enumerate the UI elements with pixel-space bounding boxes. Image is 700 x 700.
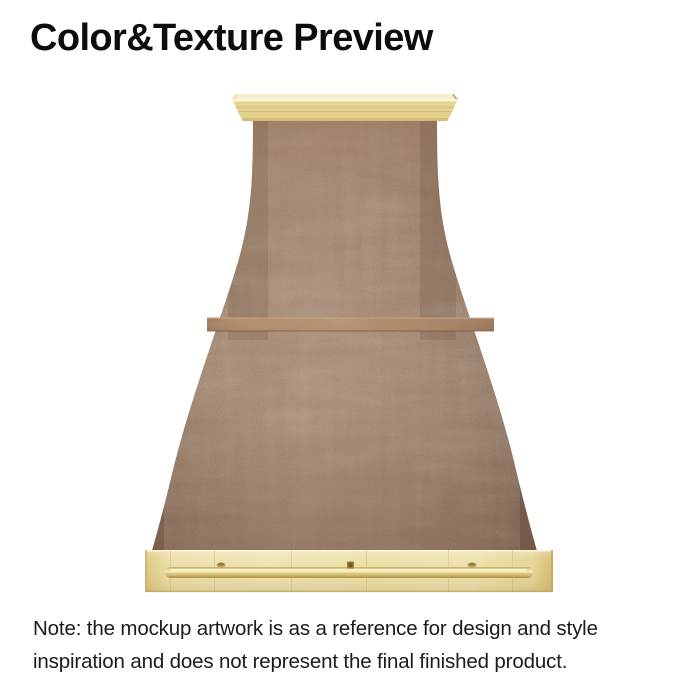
crown-left-return xyxy=(232,94,238,99)
body-vertical-shading xyxy=(140,100,550,560)
crown-top-fillet xyxy=(232,94,458,99)
body-right-edge-shadow xyxy=(520,100,550,560)
disclaimer-note: Note: the mockup artwork is as a referen… xyxy=(33,612,673,678)
fastener-center xyxy=(347,562,354,569)
preview-canvas: Color&Texture Preview xyxy=(0,0,700,700)
body-streak-texture xyxy=(140,100,550,560)
range-hood-artwork xyxy=(0,0,700,700)
fastener-right-core xyxy=(469,563,475,566)
bottom-trim-band xyxy=(145,550,553,592)
fastener-group xyxy=(216,562,476,569)
hood-body xyxy=(140,100,550,560)
body-highlight-texture xyxy=(140,100,550,560)
fastener-left-core xyxy=(218,563,224,566)
bottom-band-brush-lines xyxy=(170,550,513,592)
handle-rail xyxy=(165,567,533,578)
body-blotch-texture xyxy=(140,100,550,560)
fastener-left xyxy=(216,562,225,567)
crown-right-return xyxy=(452,94,458,99)
mid-band xyxy=(207,318,494,331)
bottom-band-face xyxy=(145,550,553,592)
bottom-band-top-highlight xyxy=(145,550,553,552)
crown-cove xyxy=(232,99,458,112)
crown-lower-fillet xyxy=(238,112,452,118)
crown-molding xyxy=(232,92,458,121)
range-hood-illustration xyxy=(0,0,700,700)
bottom-band-bottom-edge xyxy=(145,590,553,592)
handle-rail-shadow xyxy=(169,576,529,578)
crown-shadow-line xyxy=(241,118,449,121)
bottom-band-shading xyxy=(145,550,553,592)
body-neck-left-shadow xyxy=(228,100,268,340)
page-title: Color&Texture Preview xyxy=(30,19,433,57)
fastener-center-core xyxy=(348,563,352,567)
bottom-band-right-edge xyxy=(551,550,553,592)
handle-rail-highlight xyxy=(171,569,527,571)
fastener-right xyxy=(467,562,476,567)
body-grain-texture xyxy=(140,100,550,560)
body-left-edge-shadow xyxy=(140,100,164,560)
handle-rail-bar xyxy=(165,567,533,578)
body-base-fill xyxy=(140,100,550,560)
mid-band-texture xyxy=(207,318,494,331)
body-neck-right-shadow xyxy=(420,100,456,340)
bottom-band-left-edge xyxy=(145,550,147,592)
